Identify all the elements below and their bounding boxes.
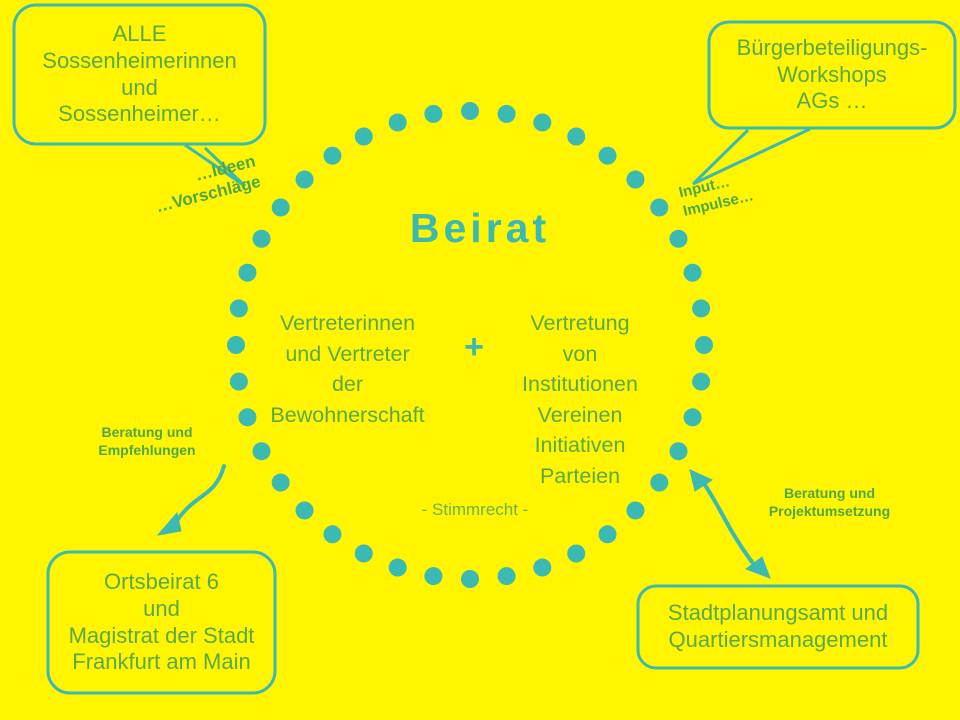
box-bottom-left-text: Ortsbeirat 6 und Magistrat der Stadt Fra… [47,551,276,694]
ring-dot [296,171,314,189]
ring-dot [389,559,407,577]
annotation-beratung-empfehlungen: Beratung und Empfehlungen [72,424,222,459]
ring-dot [599,525,617,543]
ring-dot [323,147,341,165]
center-left-column: Vertreterinnen und Vertreter der Bewohne… [255,308,440,430]
ring-dot [684,408,702,426]
ring-dot [533,559,551,577]
ring-dot [684,264,702,282]
ring-dot [227,336,245,354]
ring-dot [424,105,442,123]
annotation-beratung-projektumsetzung: Beratung und Projektumsetzung [742,485,917,520]
ring-dot [238,408,256,426]
ring-dot [692,373,710,391]
ring-dot [692,299,710,317]
ring-dot [533,113,551,131]
arrow-left-curve [176,466,224,522]
ring-dot [461,102,479,120]
arrow-right-head-up [690,470,712,491]
arrow-left-head [158,513,181,535]
ring-dot [498,105,516,123]
ring-dot [230,373,248,391]
ring-dot [424,567,442,585]
ring-dot [296,501,314,519]
ring-dot [272,474,290,492]
ring-dot [355,128,373,146]
ring-dot [626,171,644,189]
ring-dot [230,299,248,317]
ring-dot [626,501,644,519]
arrow-right-head-down [746,557,770,578]
ring-dot [461,570,479,588]
ring-dot [323,525,341,543]
bubble-top-left-text: ALLE Sossenheimerinnen und Sossenheimer… [13,4,266,145]
ring-dot [567,128,585,146]
ring-dot [599,147,617,165]
ring-dot [389,113,407,131]
ring-dot [498,567,516,585]
ring-dot [567,545,585,563]
center-footnote: - Stimmrecht - [330,500,620,520]
ring-dot [670,442,688,460]
diagram-canvas: ALLE Sossenheimerinnen und Sossenheimer…… [0,0,960,720]
bubble-top-right-text: Bürgerbeteiligungs- Workshops AGs … [708,21,956,129]
center-right-column: Vertretung von Institutionen Vereinen In… [490,308,670,491]
box-bottom-right-text: Stadtplanungsamt und Quartiersmanagement [637,585,919,669]
ring-dot [355,545,373,563]
ring-dot [253,442,271,460]
ring-dot [238,264,256,282]
ring-dot [695,336,713,354]
